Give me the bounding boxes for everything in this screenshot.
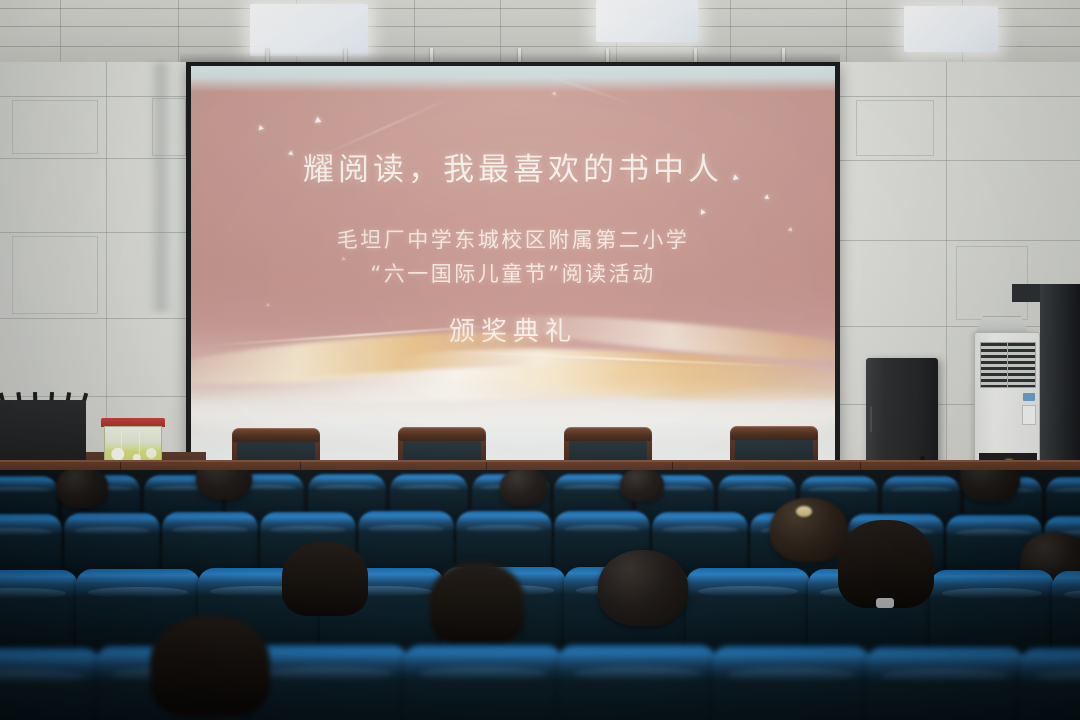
- projection-screen[interactable]: ⯅ ⯅ ⯅ ⯅ ⯅ ⯅ ⯅ ⯅ ⯅ ⯅ 耀阅读，我最喜欢的书中人 毛坦厂中学东城…: [191, 66, 835, 460]
- student-head: [56, 470, 108, 508]
- audience-seat[interactable]: [1020, 648, 1080, 720]
- audience-seat[interactable]: [250, 645, 408, 720]
- ac-badge: [1023, 393, 1035, 401]
- floor-standing-air-conditioner: [974, 332, 1040, 480]
- audience-seat[interactable]: [712, 646, 870, 720]
- student-head: [282, 542, 368, 616]
- audience-seat[interactable]: [558, 645, 716, 720]
- ac-control-label: [1022, 405, 1036, 425]
- student-head: [960, 470, 1020, 502]
- student-collar: [876, 598, 894, 608]
- student-head: [598, 550, 688, 626]
- ac-vent-grille: [980, 342, 1036, 388]
- audience-seat[interactable]: [0, 648, 100, 720]
- slide-text-layer: 耀阅读，我最喜欢的书中人 毛坦厂中学东城校区附属第二小学 “六一国际儿童节”阅读…: [191, 66, 835, 460]
- panel-light-right: [904, 6, 998, 52]
- audience-seat[interactable]: [866, 647, 1024, 720]
- student-head: [838, 520, 934, 608]
- auditorium-scene: ⯅ ⯅ ⯅ ⯅ ⯅ ⯅ ⯅ ⯅ ⯅ ⯅ 耀阅读，我最喜欢的书中人 毛坦厂中学东城…: [0, 0, 1080, 720]
- slide-title: 耀阅读，我最喜欢的书中人: [191, 144, 835, 189]
- hair-scrunchie: [796, 506, 812, 517]
- slide-subtitle-line2: “六一国际儿童节”阅读活动: [191, 258, 835, 288]
- audience-seating: [0, 470, 1080, 720]
- student-head: [620, 470, 664, 502]
- student-head: [430, 562, 524, 644]
- panel-light-center: [596, 0, 698, 42]
- slide-event-name: 颁奖典礼: [191, 311, 835, 348]
- duct-housing: [1040, 284, 1080, 484]
- student-head: [150, 616, 270, 716]
- student-head: [500, 470, 548, 506]
- slide-subtitle-line1: 毛坦厂中学东城校区附属第二小学: [191, 224, 835, 254]
- audience-seat[interactable]: [404, 645, 562, 720]
